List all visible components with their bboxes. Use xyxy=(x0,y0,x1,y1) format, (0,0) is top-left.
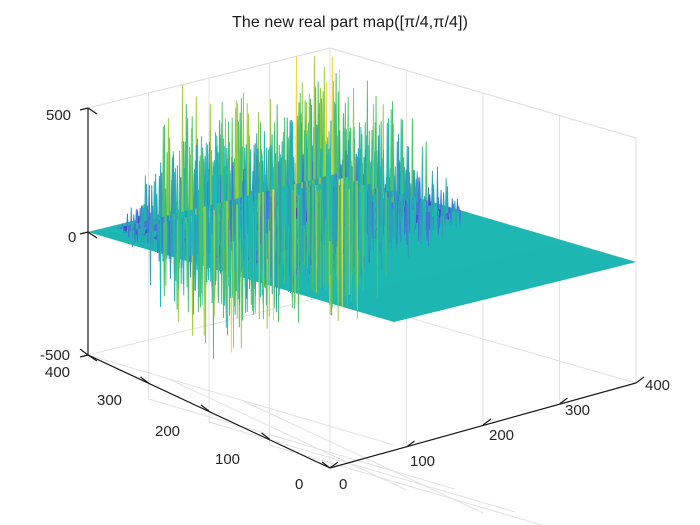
y-tick-label-3: 100 xyxy=(215,451,240,468)
surface-spike xyxy=(164,125,166,217)
surface-spike xyxy=(375,96,377,188)
x-axis-tick-labels: 0100200300400 xyxy=(339,377,670,493)
y-tick-label-1: 300 xyxy=(97,392,122,409)
surface-spike xyxy=(133,214,135,224)
z-tick-label-2: -500 xyxy=(40,347,70,364)
surface-spike xyxy=(130,208,132,225)
z-tick-label-0: 500 xyxy=(46,107,71,124)
surface-spike xyxy=(160,163,162,218)
surface-spike xyxy=(408,147,410,199)
surface-spike xyxy=(366,81,368,185)
surface-spike xyxy=(335,73,337,174)
surface-spike xyxy=(126,214,128,226)
surface-spike xyxy=(240,98,242,197)
x-tick-label-4: 400 xyxy=(645,377,670,394)
surface-spike xyxy=(323,67,325,183)
surface-plot xyxy=(88,47,636,358)
z-axis-tick-labels: 5000-500 xyxy=(40,107,76,364)
surface-spike xyxy=(151,185,153,219)
surface-spike xyxy=(271,134,273,190)
surface-spike xyxy=(425,142,427,201)
surface-spike xyxy=(440,190,442,209)
surface-spike xyxy=(266,148,268,197)
surface-spike xyxy=(263,131,265,192)
z-tick-label-1: 0 xyxy=(68,229,76,246)
x-tick-label-2: 200 xyxy=(489,427,514,444)
x-tick-label-3: 300 xyxy=(565,402,590,419)
surface-spike xyxy=(454,201,456,212)
matlab-figure-window: The new real part map([π/4,π/4]) xyxy=(0,0,700,525)
y-tick-label-2: 200 xyxy=(155,423,180,440)
x-tick-label-0: 0 xyxy=(339,476,347,493)
surface-spike xyxy=(228,122,230,201)
surface-spike xyxy=(416,171,418,202)
surface-spike xyxy=(181,85,183,212)
surface-spike xyxy=(421,147,423,202)
x-tick-label-1: 100 xyxy=(410,453,435,470)
axes-3d: 5000-500 4003002001000 0100200300400 xyxy=(0,0,700,525)
surface-spike xyxy=(284,117,286,193)
surface-spike xyxy=(380,121,382,187)
surface-spike xyxy=(176,165,178,213)
y-tick-label-4: 0 xyxy=(295,476,303,493)
surface-spike xyxy=(221,102,223,202)
surface-spike xyxy=(436,167,438,204)
y-tick-label-0: 400 xyxy=(45,364,70,381)
surface-spike xyxy=(443,192,445,208)
surface-spike xyxy=(391,101,393,190)
surface-spike xyxy=(237,103,239,198)
y-axis-tick-labels: 4003002001000 xyxy=(45,364,303,493)
surface-spike xyxy=(353,88,355,182)
surface-spike xyxy=(419,177,421,202)
surface-spike xyxy=(276,104,278,188)
